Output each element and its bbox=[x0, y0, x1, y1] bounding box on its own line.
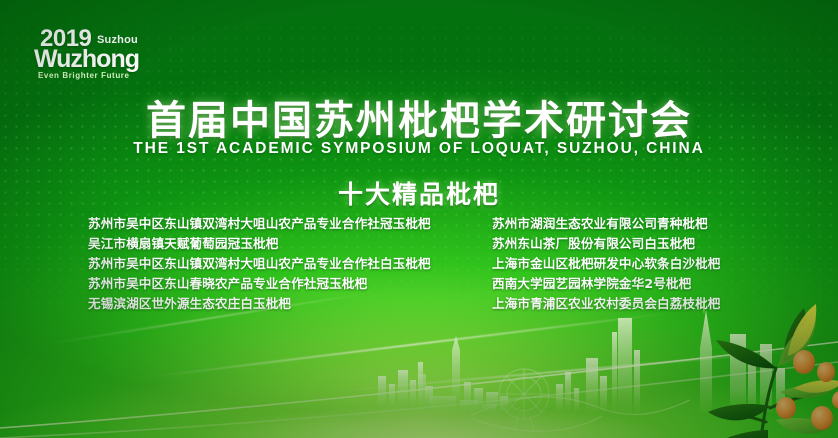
ferris-wheel-icon bbox=[499, 369, 549, 430]
logo-district: Wuzhong bbox=[34, 47, 139, 72]
award-lists: 苏州市吴中区东山镇双湾村大咀山农产品专业合作社冠玉枇杷 吴江市横扇镇天赋葡萄园冠… bbox=[0, 214, 838, 324]
logo-tagline: Even Brighter Future bbox=[38, 72, 130, 80]
wuzhong-suzhou-logo: 2019 Suzhou Wuzhong Even Brighter Future bbox=[34, 28, 209, 78]
list-item: 苏州市吴中区东山镇双湾村大咀山农产品专业合作社白玉枇杷 bbox=[88, 254, 468, 274]
list-item: 上海市青浦区农业农村委员会白荔枝枇杷 bbox=[492, 294, 792, 314]
list-item: 苏州市湖润生态农业有限公司青种枇杷 bbox=[492, 214, 792, 234]
light-beam bbox=[331, 350, 799, 393]
list-item: 苏州市吴中区东山春晓农产品专业合作社冠玉枇杷 bbox=[88, 274, 468, 294]
list-item: 无锡滨湖区世外源生态农庄白玉枇杷 bbox=[88, 294, 468, 314]
ground-glow bbox=[0, 352, 838, 438]
list-item: 苏州市吴中区东山镇双湾村大咀山农产品专业合作社冠玉枇杷 bbox=[88, 214, 468, 234]
award-list-right: 苏州市湖润生态农业有限公司青种枇杷 苏州东山茶厂股份有限公司白玉枇杷 上海市金山… bbox=[492, 214, 792, 314]
loquat-fruit bbox=[776, 350, 838, 430]
event-banner: 2019 Suzhou Wuzhong Even Brighter Future… bbox=[0, 0, 838, 438]
award-list-left: 苏州市吴中区东山镇双湾村大咀山农产品专业合作社冠玉枇杷 吴江市横扇镇天赋葡萄园冠… bbox=[88, 214, 468, 314]
main-title-english: THE 1ST ACADEMIC SYMPOSIUM OF LOQUAT, SU… bbox=[0, 140, 838, 158]
list-item: 西南大学园艺园林学院金华2号枇杷 bbox=[492, 274, 792, 294]
list-item: 上海市金山区枇杷研发中心软条白沙枇杷 bbox=[492, 254, 792, 274]
main-title-chinese: 首届中国苏州枇杷学术研讨会 bbox=[0, 88, 838, 146]
list-item: 苏州东山茶厂股份有限公司白玉枇杷 bbox=[492, 234, 792, 254]
section-title-top-ten: 十大精品枇杷 bbox=[0, 175, 838, 211]
list-item: 吴江市横扇镇天赋葡萄园冠玉枇杷 bbox=[88, 234, 468, 254]
